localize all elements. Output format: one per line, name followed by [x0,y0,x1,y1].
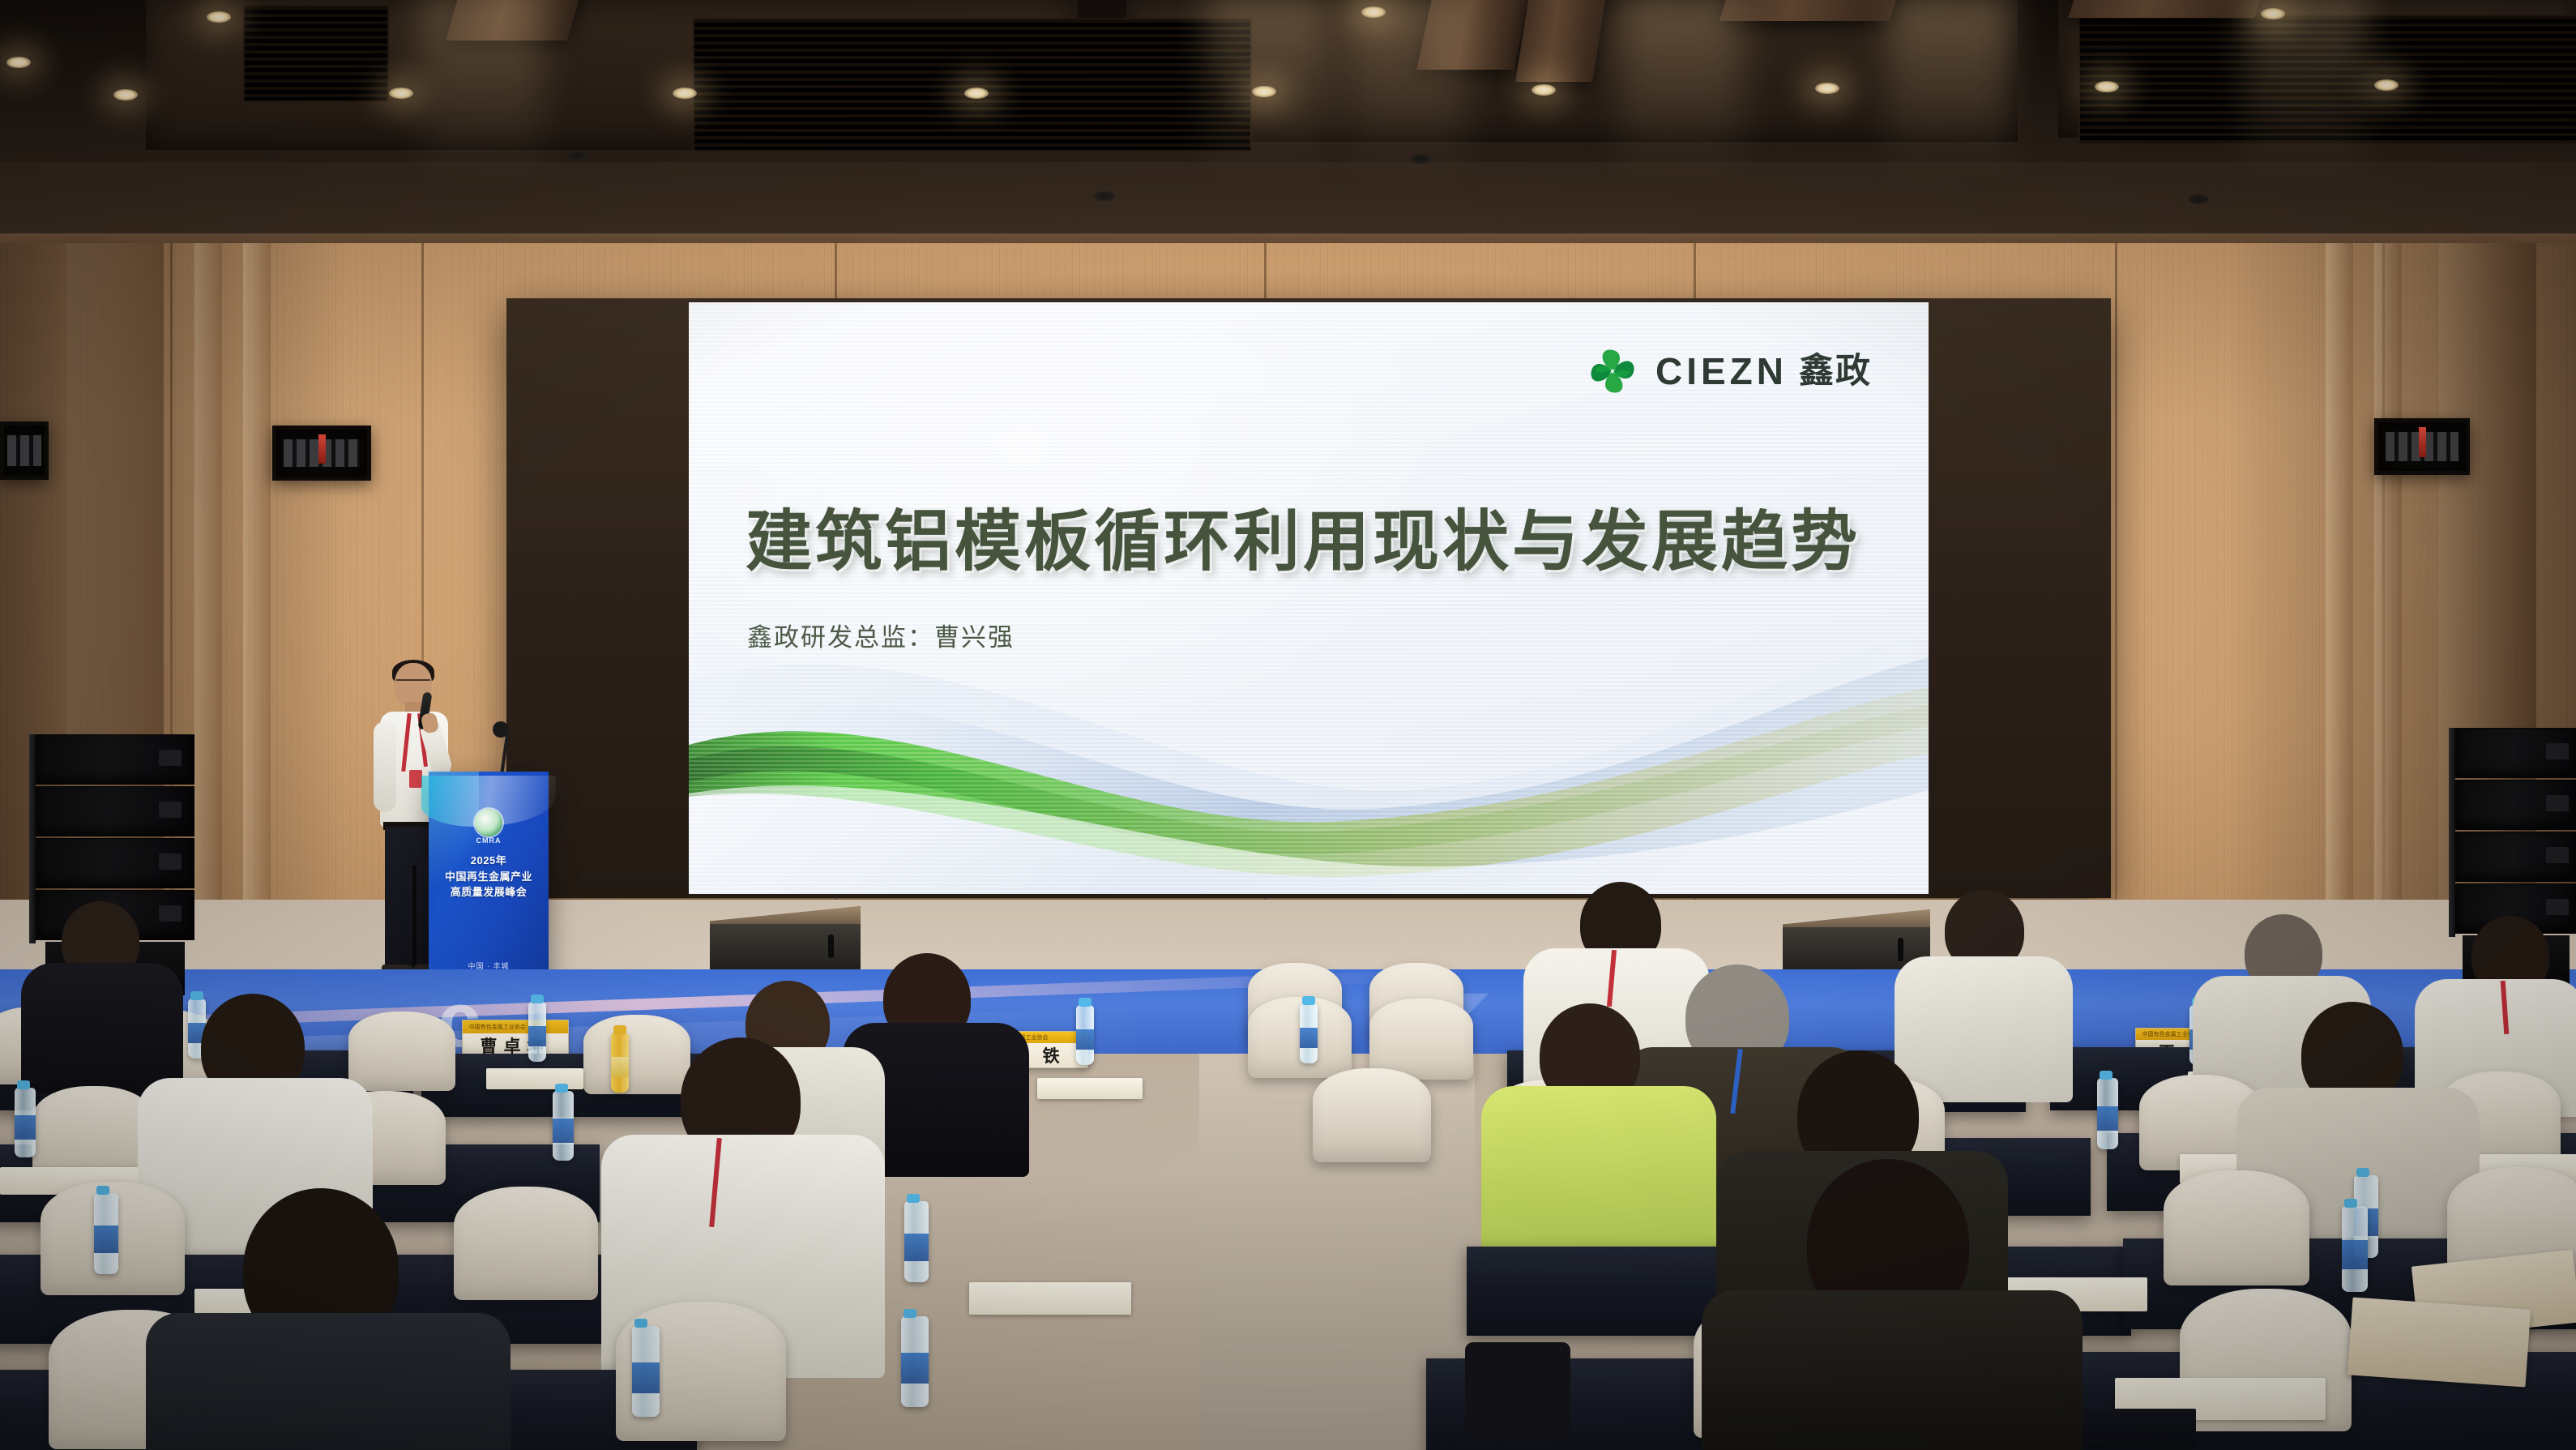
lectern-line-2: 中国再生金属产业 [429,869,549,885]
ceiling-downlight [207,11,231,23]
wall-cabinet-far-left [0,421,49,480]
ceiling-beam-4 [1719,0,1903,21]
water-bottle [1300,1003,1318,1063]
chair [2164,1170,2309,1285]
fire-hose-cabinet-left [272,426,371,481]
led-video-wall: CIEZN 鑫政 建筑铝模板循环利用现状与发展趋势 鑫政研发总监：曹兴强 [506,298,2111,898]
ceiling-wall-wash-5 [1888,0,2010,178]
ceiling-vent-grille-1 [243,5,389,102]
water-bottle [553,1091,574,1161]
water-bottle [15,1088,36,1157]
ceiling-wall-wash-3 [1345,0,1467,178]
ceiling-downlight [1361,6,1386,18]
slide-wave-graphic [689,623,1929,894]
slide-title: 建筑铝模板循环利用现状与发展趋势 [745,487,1860,584]
slide-subtitle: 鑫政研发总监：曹兴强 [747,617,1015,653]
chair [454,1187,598,1300]
document [1037,1078,1143,1099]
logo-chinese: 鑫政 [1799,354,1872,389]
smoke-detector-icon [567,151,588,160]
water-bottle [632,1326,660,1417]
cmra-logo-icon [475,809,502,836]
lectern: CMRA 2025年 中国再生金属产业 高质量发展峰会 中国 · 丰城 [429,772,549,984]
attendee-body [1702,1290,2083,1450]
attendee-body [146,1313,511,1450]
ceiling-downlight [2261,8,2285,19]
ceiling-vent-grille-2 [693,18,1252,152]
smoke-detector-icon [1094,191,1115,201]
chair [583,1015,690,1094]
smoke-detector-icon [1410,154,1431,164]
smoke-detector-icon [2188,195,2209,204]
ceiling-downlight [113,89,138,101]
presentation-slide: CIEZN 鑫政 建筑铝模板循环利用现状与发展趋势 鑫政研发总监：曹兴强 [689,302,1929,894]
lectern-title: 2025年 中国再生金属产业 高质量发展峰会 [429,853,549,900]
water-bottle [2097,1078,2118,1149]
brochure [2347,1297,2531,1387]
ceiling [0,0,2576,267]
bag [1465,1342,1570,1439]
ciezn-pinwheel-logo-icon [1586,344,1639,398]
ceiling-wall-wash-6 [2245,0,2366,178]
ceiling-beam-5 [2068,0,2267,18]
chair [1369,999,1473,1080]
ceiling-wall-wash-4 [1621,0,1742,178]
attendee-body [1481,1086,1716,1264]
ceiling-downlight [389,88,413,99]
ceiling-downlight [673,88,697,99]
water-bottle [901,1316,929,1407]
slide-logo-text: CIEZN 鑫政 [1655,353,1872,390]
screen-bezel-right [1929,298,2111,898]
chair [1313,1068,1431,1162]
attendee-body [1895,956,2073,1102]
ceiling-downlight [2095,81,2119,92]
notepad [969,1282,1131,1315]
nameplate-org: 中国有色金属工业协会 [463,1020,568,1033]
water-bottle [1076,1005,1094,1065]
ceiling-downlight [6,57,31,68]
logo-latin: CIEZN [1655,353,1788,390]
line-array-speaker-right [2455,728,2576,937]
lectern-line-3: 高质量发展峰会 [429,884,549,900]
nameplate: 中国有色金属工业协会 曹卓坤 [462,1020,569,1059]
ceiling-downlight [964,88,989,99]
fire-hose-cabinet-right [2374,418,2470,475]
conference-hall-photo: CIEZN 鑫政 建筑铝模板循环利用现状与发展趋势 鑫政研发总监：曹兴强 [0,0,2576,1450]
presenter-badge [409,770,422,788]
lectern-line-1: 2025年 [429,853,549,869]
chair [348,1012,455,1091]
attendee-body [21,963,183,1093]
ceiling-wall-wash-1 [421,0,543,178]
tea-bottle [611,1033,629,1093]
slide-logo: CIEZN 鑫政 [1586,344,1872,398]
water-bottle [904,1201,929,1282]
water-bottle [2342,1206,2368,1292]
cmra-logo-label: CMRA [476,836,502,845]
glasses-icon [396,679,430,687]
ceiling-downlight [1532,84,1556,96]
ceiling-downlight [1252,86,1276,97]
document [486,1068,583,1089]
water-bottle [94,1193,118,1274]
ceiling-downlight [2374,79,2399,91]
chair [32,1086,154,1180]
water-bottle [528,1002,546,1062]
ceiling-downlight [1815,83,1839,94]
